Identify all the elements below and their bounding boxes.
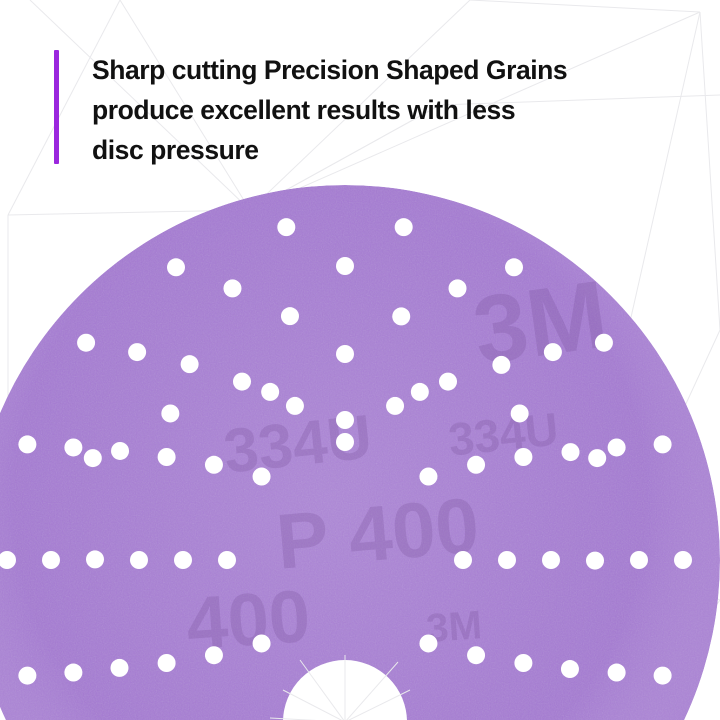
page-title: Sharp cutting Precision Shaped Grains pr…: [92, 50, 567, 170]
headline-line-2: produce excellent results with less: [92, 90, 567, 130]
headline-block: Sharp cutting Precision Shaped Grains pr…: [54, 50, 567, 170]
headline-line-3: disc pressure: [92, 130, 567, 170]
svg-text:3M: 3M: [467, 261, 614, 386]
svg-text:P 400: P 400: [273, 480, 482, 585]
svg-text:400: 400: [184, 574, 313, 665]
accent-bar: [54, 50, 59, 164]
feature-card: 3M334U334UP 4004003M Sharp cutting Preci…: [0, 0, 720, 720]
headline-line-1: Sharp cutting Precision Shaped Grains: [92, 50, 567, 90]
